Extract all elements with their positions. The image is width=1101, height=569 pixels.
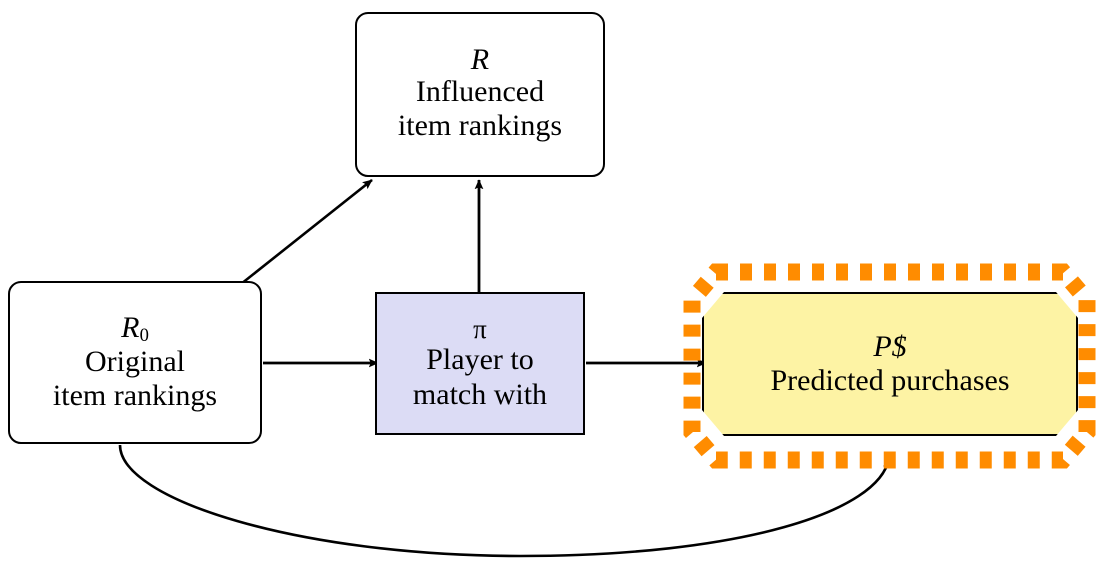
node-pi-symbol: π — [473, 315, 487, 343]
node-R-symbol: R — [471, 44, 490, 76]
node-R0-label-line1: Original — [85, 345, 185, 379]
node-P-symbol: P$ — [873, 330, 906, 364]
node-player-to-match-with[interactable]: π Player to match with — [375, 292, 585, 435]
node-R0-symbol: R0 — [121, 312, 149, 346]
node-predicted-purchases-body: P$ Predicted purchases — [702, 292, 1078, 436]
node-R-label-line2: item rankings — [398, 109, 562, 143]
node-predicted-purchases[interactable]: P$ Predicted purchases — [682, 262, 1097, 470]
node-R0-label-line2: item rankings — [53, 379, 217, 413]
diagram-canvas: R Influenced item rankings R0 Original i… — [0, 0, 1101, 569]
node-pi-label-line2: match with — [413, 378, 547, 412]
node-P-label-line1: Predicted purchases — [770, 364, 1009, 398]
node-pi-label-line1: Player to — [426, 343, 533, 377]
node-influenced-item-rankings[interactable]: R Influenced item rankings — [355, 12, 605, 177]
node-R-label-line1: Influenced — [416, 75, 544, 109]
node-original-item-rankings[interactable]: R0 Original item rankings — [8, 281, 262, 444]
edge-R0-to-R — [241, 180, 372, 284]
